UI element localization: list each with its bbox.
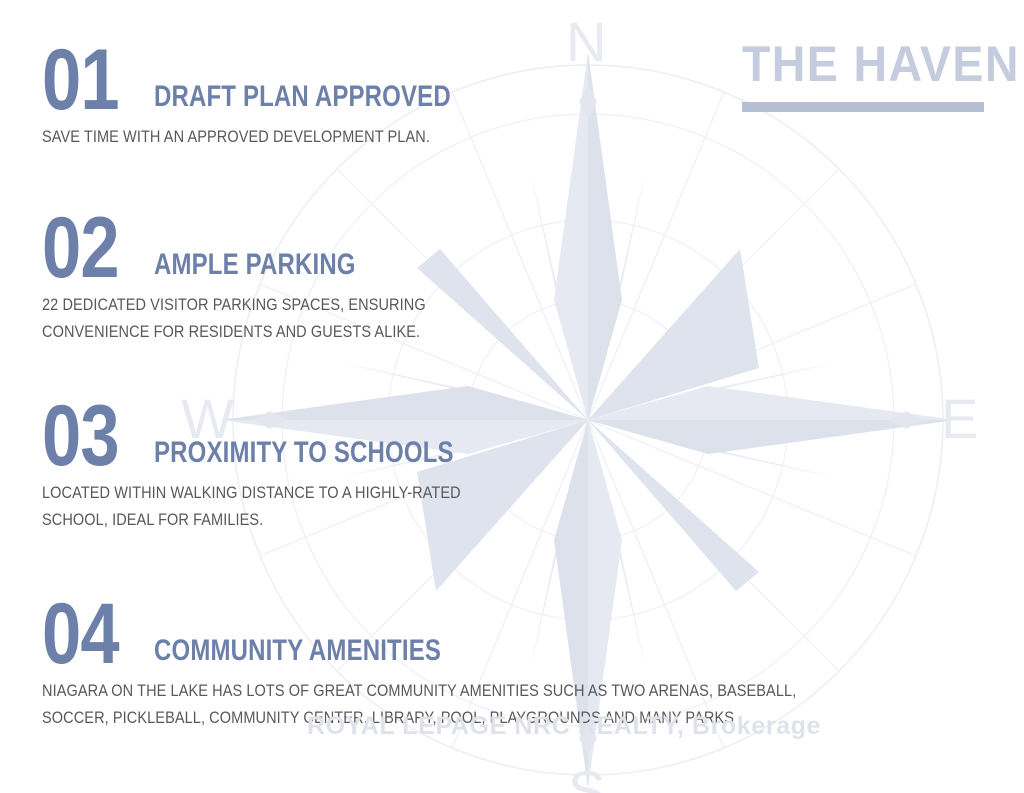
- feature-description: LOCATED WITHIN WALKING DISTANCE TO A HIG…: [42, 480, 470, 533]
- brokerage-watermark: ROYAL LEPAGE NRC REALTY, Brokerage: [307, 712, 821, 741]
- brand-underline-rule: [742, 102, 984, 112]
- feature-item-02: 02 AMPLE PARKING 22 DEDICATED VISITOR PA…: [42, 214, 478, 345]
- feature-title: AMPLE PARKING: [154, 250, 356, 283]
- slide-canvas: N W E S THE HAVEN 01 DRAFT PLAN APPROVED…: [0, 0, 1024, 793]
- feature-description-line: NIAGARA ON THE LAKE HAS LOTS OF GREAT CO…: [42, 678, 796, 705]
- feature-item-03: 03 PROXIMITY TO SCHOOLS LOCATED WITHIN W…: [42, 402, 529, 533]
- feature-number: 03: [42, 402, 134, 471]
- feature-heading: 02 AMPLE PARKING: [42, 214, 478, 283]
- feature-description-line: SCHOOL, IDEAL FOR FAMILIES.: [42, 507, 470, 534]
- feature-description: 22 DEDICATED VISITOR PARKING SPACES, ENS…: [42, 292, 426, 345]
- feature-description-line: CONVENIENCE FOR RESIDENTS AND GUESTS ALI…: [42, 319, 426, 346]
- feature-description-line: SAVE TIME WITH AN APPROVED DEVELOPMENT P…: [42, 124, 467, 151]
- feature-description-line: LOCATED WITHIN WALKING DISTANCE TO A HIG…: [42, 480, 470, 507]
- feature-heading: 01 DRAFT PLAN APPROVED: [42, 46, 525, 115]
- feature-description-line: 22 DEDICATED VISITOR PARKING SPACES, ENS…: [42, 292, 426, 319]
- compass-south-label: S: [568, 763, 606, 793]
- brand-block: THE HAVEN: [742, 40, 986, 112]
- feature-item-01: 01 DRAFT PLAN APPROVED SAVE TIME WITH AN…: [42, 46, 525, 151]
- compass-east-label: E: [941, 391, 979, 447]
- feature-heading: 04 COMMUNITY AMENITIES: [42, 600, 899, 669]
- brand-title: THE HAVEN: [742, 40, 969, 89]
- feature-number: 04: [42, 600, 134, 669]
- feature-title: DRAFT PLAN APPROVED: [154, 82, 451, 115]
- feature-title: COMMUNITY AMENITIES: [154, 636, 441, 669]
- feature-description: SAVE TIME WITH AN APPROVED DEVELOPMENT P…: [42, 124, 467, 151]
- compass-north-label: N: [566, 14, 607, 70]
- feature-number: 02: [42, 214, 134, 283]
- feature-title: PROXIMITY TO SCHOOLS: [154, 438, 454, 471]
- feature-number: 01: [42, 46, 134, 115]
- feature-heading: 03 PROXIMITY TO SCHOOLS: [42, 402, 529, 471]
